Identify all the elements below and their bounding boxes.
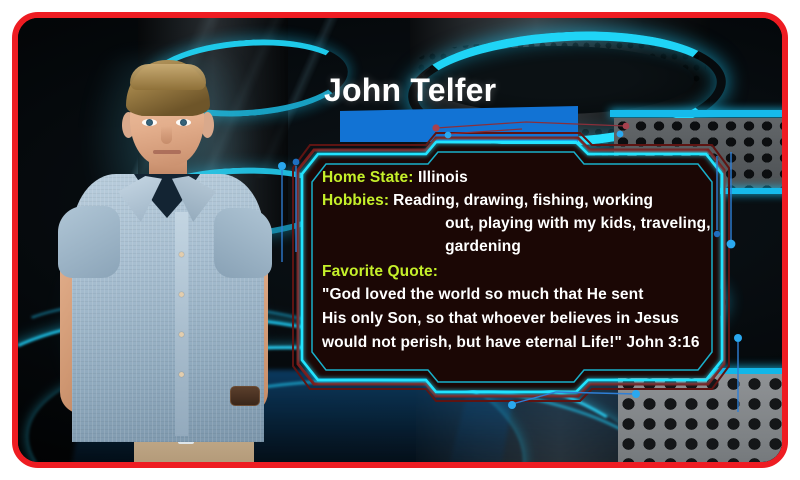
circuit-node — [727, 240, 736, 249]
shirt-button — [179, 252, 184, 257]
shirt-placket — [175, 212, 188, 436]
hobbies-value: Reading, drawing, fishing, working out, … — [393, 189, 711, 258]
nose — [161, 126, 172, 144]
shirt-button — [179, 372, 184, 377]
circuit-node — [617, 131, 624, 138]
left-sleeve — [58, 206, 120, 278]
circuit-node — [508, 401, 516, 409]
portrait-figure — [38, 56, 294, 462]
home-state-label: Home State: — [322, 169, 414, 186]
shirt-button — [179, 332, 184, 337]
circuit-node — [293, 159, 300, 166]
page-title: John Telfer — [324, 72, 496, 109]
field-hobbies: Hobbies: Reading, drawing, fishing, work… — [322, 189, 714, 258]
hobbies-line-2: out, playing with my kids, traveling, — [393, 212, 711, 235]
circuit-traces-bottom — [512, 392, 636, 404]
home-state-value: Illinois — [418, 169, 468, 186]
quote-line-2: His only Son, so that whoever believes i… — [322, 307, 714, 331]
right-eye — [176, 119, 191, 126]
circuit-node — [278, 162, 286, 170]
wristwatch — [230, 386, 260, 406]
favorite-quote-label: Favorite Quote: — [322, 260, 714, 283]
info-panel: Home State: Illinois Hobbies: Reading, d… — [290, 130, 738, 398]
quote-line-3: would not perish, but have eternal Life!… — [322, 331, 714, 355]
shirt-button — [179, 292, 184, 297]
circuit-node — [623, 123, 630, 130]
hobbies-label: Hobbies: — [322, 189, 389, 258]
field-home-state: Home State: Illinois — [322, 166, 714, 189]
mouth — [153, 150, 181, 154]
right-sleeve — [214, 208, 272, 278]
quote-line-1: "God loved the world so much that He sen… — [322, 283, 714, 307]
info-content: Home State: Illinois Hobbies: Reading, d… — [322, 166, 714, 374]
left-iris — [146, 119, 153, 126]
hobbies-line-3: gardening — [393, 235, 711, 258]
hobbies-line-1: Reading, drawing, fishing, working — [393, 189, 711, 212]
avatar — [38, 56, 294, 462]
left-eye — [142, 119, 157, 126]
profile-card: John Telfer — [12, 12, 788, 468]
right-iris — [180, 119, 187, 126]
circuit-node — [714, 231, 720, 237]
circuit-node — [734, 334, 742, 342]
circuit-node — [632, 390, 640, 398]
hair-fringe — [130, 64, 206, 90]
circuit-node — [445, 132, 452, 139]
card-stage: John Telfer — [18, 18, 782, 462]
circuit-traces-right — [717, 152, 738, 412]
circuit-node — [432, 124, 439, 131]
